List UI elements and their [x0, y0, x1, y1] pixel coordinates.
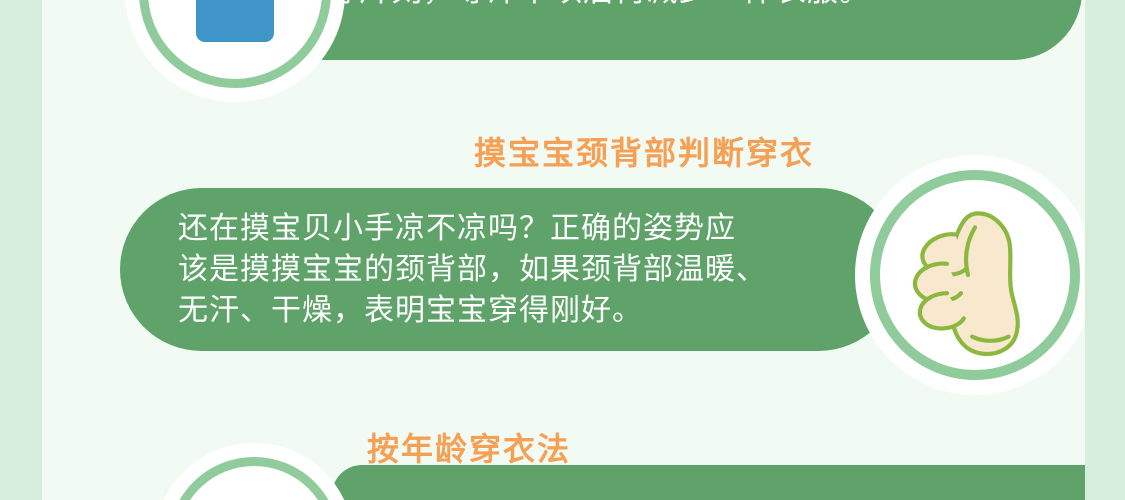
blue-card-star-icon: ★	[196, 0, 274, 42]
tip-bubble-neck-check: 还在摸宝贝小手凉不凉吗？正确的姿势应 该是摸摸宝宝的颈背部，如果颈背部温暖、 无…	[120, 188, 900, 351]
infographic-canvas: 静片刻，等汗干以后再减少一件衣服。 ★ 摸宝宝颈背部判断穿衣 还在摸宝贝小手凉不…	[42, 0, 1085, 500]
hand-icon	[891, 191, 1059, 359]
section-heading-neck-check: 摸宝宝颈背部判断穿衣	[474, 128, 814, 174]
right-border-strip	[1085, 0, 1125, 500]
badge-ring	[168, 457, 340, 500]
tip-bubble-sweat-text: 静片刻，等汗干以后再减少一件衣服。	[327, 0, 871, 12]
section-heading-by-age: 按年龄穿衣法	[367, 424, 571, 470]
badge-ring	[870, 170, 1080, 380]
pink-circle-badge	[154, 443, 354, 500]
tip-bubble-neck-check-text: 还在摸宝贝小手凉不凉吗？正确的姿势应 该是摸摸宝宝的颈背部，如果颈背部温暖、 无…	[178, 208, 767, 331]
left-border-strip	[0, 0, 42, 500]
tip-bubble-by-age	[332, 465, 1085, 500]
badge-ring: ★	[139, 0, 331, 88]
blue-card-star-badge: ★	[125, 0, 345, 102]
hand-badge	[855, 155, 1085, 395]
